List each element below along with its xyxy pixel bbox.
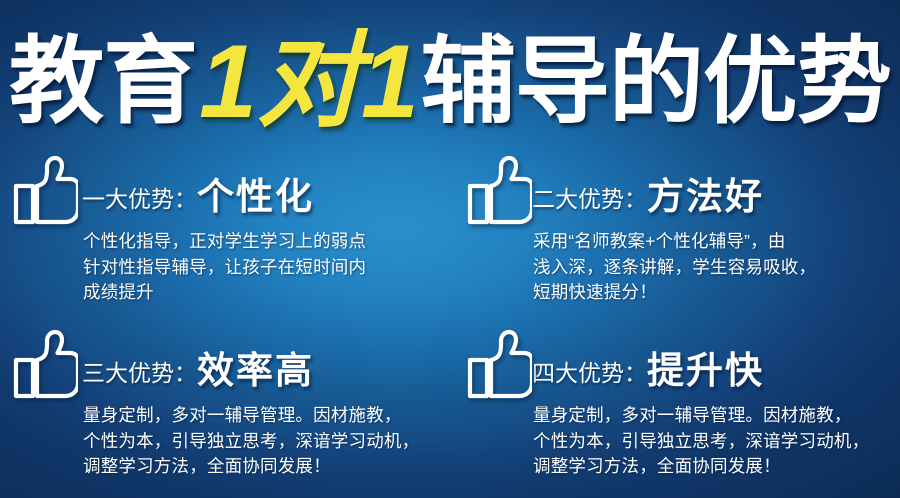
description-line: 个性为本，引导独立思考，深谙学习动机， bbox=[83, 429, 436, 455]
thumbs-up-icon bbox=[12, 328, 78, 400]
promo-poster: 教育 1对1 辅导的优势 一大优势： 个性化 个性化指导，正对学生学习上的弱点 … bbox=[0, 0, 900, 498]
description-line: 量身定制，多对一辅导管理。因材施教， bbox=[533, 403, 886, 429]
advantage-heading-2: 二大优势： 方法好 bbox=[532, 158, 886, 216]
description-line: 成绩提升 bbox=[83, 280, 436, 306]
description-line: 个性化指导，正对学生学习上的弱点 bbox=[83, 229, 436, 255]
description-line: 浅入深，逐条讲解，学生容易吸收， bbox=[533, 255, 886, 281]
advantage-label-1: 一大优势： bbox=[82, 188, 197, 216]
advantage-keyword-3: 效率高 bbox=[197, 352, 314, 390]
description-line: 短期快速提分！ bbox=[533, 280, 886, 306]
thumbs-up-icon bbox=[466, 154, 532, 226]
advantage-label-2: 二大优势： bbox=[532, 188, 647, 216]
description-line: 调整学习方法，全面协同发展！ bbox=[83, 454, 436, 480]
advantage-description-3: 量身定制，多对一辅导管理。因材施教， 个性为本，引导独立思考，深谙学习动机， 调… bbox=[83, 403, 436, 480]
advantage-card-2: 二大优势： 方法好 采用“名师教案+个性化辅导”，由 浅入深，逐条讲解，学生容易… bbox=[450, 150, 900, 324]
title-segment-highlight: 1对1 bbox=[197, 30, 421, 134]
title-segment-3: 辅导的优势 bbox=[421, 35, 891, 130]
thumbs-up-icon bbox=[12, 154, 78, 226]
advantage-description-4: 量身定制，多对一辅导管理。因材施教， 个性为本，引导独立思考，深谙学习动机， 调… bbox=[533, 403, 886, 480]
advantage-heading-1: 一大优势： 个性化 bbox=[82, 158, 436, 216]
description-line: 针对性指导辅导，让孩子在短时间内 bbox=[83, 255, 436, 281]
title-segment-1: 教育 bbox=[9, 35, 197, 130]
thumbs-up-icon bbox=[466, 328, 532, 400]
description-line: 个性为本，引导独立思考，深谙学习动机， bbox=[533, 429, 886, 455]
advantage-heading-3: 三大优势： 效率高 bbox=[82, 332, 436, 390]
advantage-card-1: 一大优势： 个性化 个性化指导，正对学生学习上的弱点 针对性指导辅导，让孩子在短… bbox=[0, 150, 450, 324]
advantages-grid: 一大优势： 个性化 个性化指导，正对学生学习上的弱点 针对性指导辅导，让孩子在短… bbox=[0, 150, 900, 498]
advantage-card-4: 四大优势： 提升快 量身定制，多对一辅导管理。因材施教， 个性为本，引导独立思考… bbox=[450, 324, 900, 498]
advantage-description-1: 个性化指导，正对学生学习上的弱点 针对性指导辅导，让孩子在短时间内 成绩提升 bbox=[83, 229, 436, 306]
description-line: 采用“名师教案+个性化辅导”，由 bbox=[533, 229, 886, 255]
advantage-keyword-2: 方法好 bbox=[647, 178, 764, 216]
advantage-heading-4: 四大优势： 提升快 bbox=[532, 332, 886, 390]
description-line: 调整学习方法，全面协同发展！ bbox=[533, 454, 886, 480]
page-title: 教育 1对1 辅导的优势 bbox=[0, 24, 900, 140]
advantage-label-4: 四大优势： bbox=[532, 362, 647, 390]
advantage-keyword-4: 提升快 bbox=[647, 352, 764, 390]
advantage-card-3: 三大优势： 效率高 量身定制，多对一辅导管理。因材施教， 个性为本，引导独立思考… bbox=[0, 324, 450, 498]
advantage-label-3: 三大优势： bbox=[82, 362, 197, 390]
description-line: 量身定制，多对一辅导管理。因材施教， bbox=[83, 403, 436, 429]
advantage-keyword-1: 个性化 bbox=[197, 178, 314, 216]
advantage-description-2: 采用“名师教案+个性化辅导”，由 浅入深，逐条讲解，学生容易吸收， 短期快速提分… bbox=[533, 229, 886, 306]
